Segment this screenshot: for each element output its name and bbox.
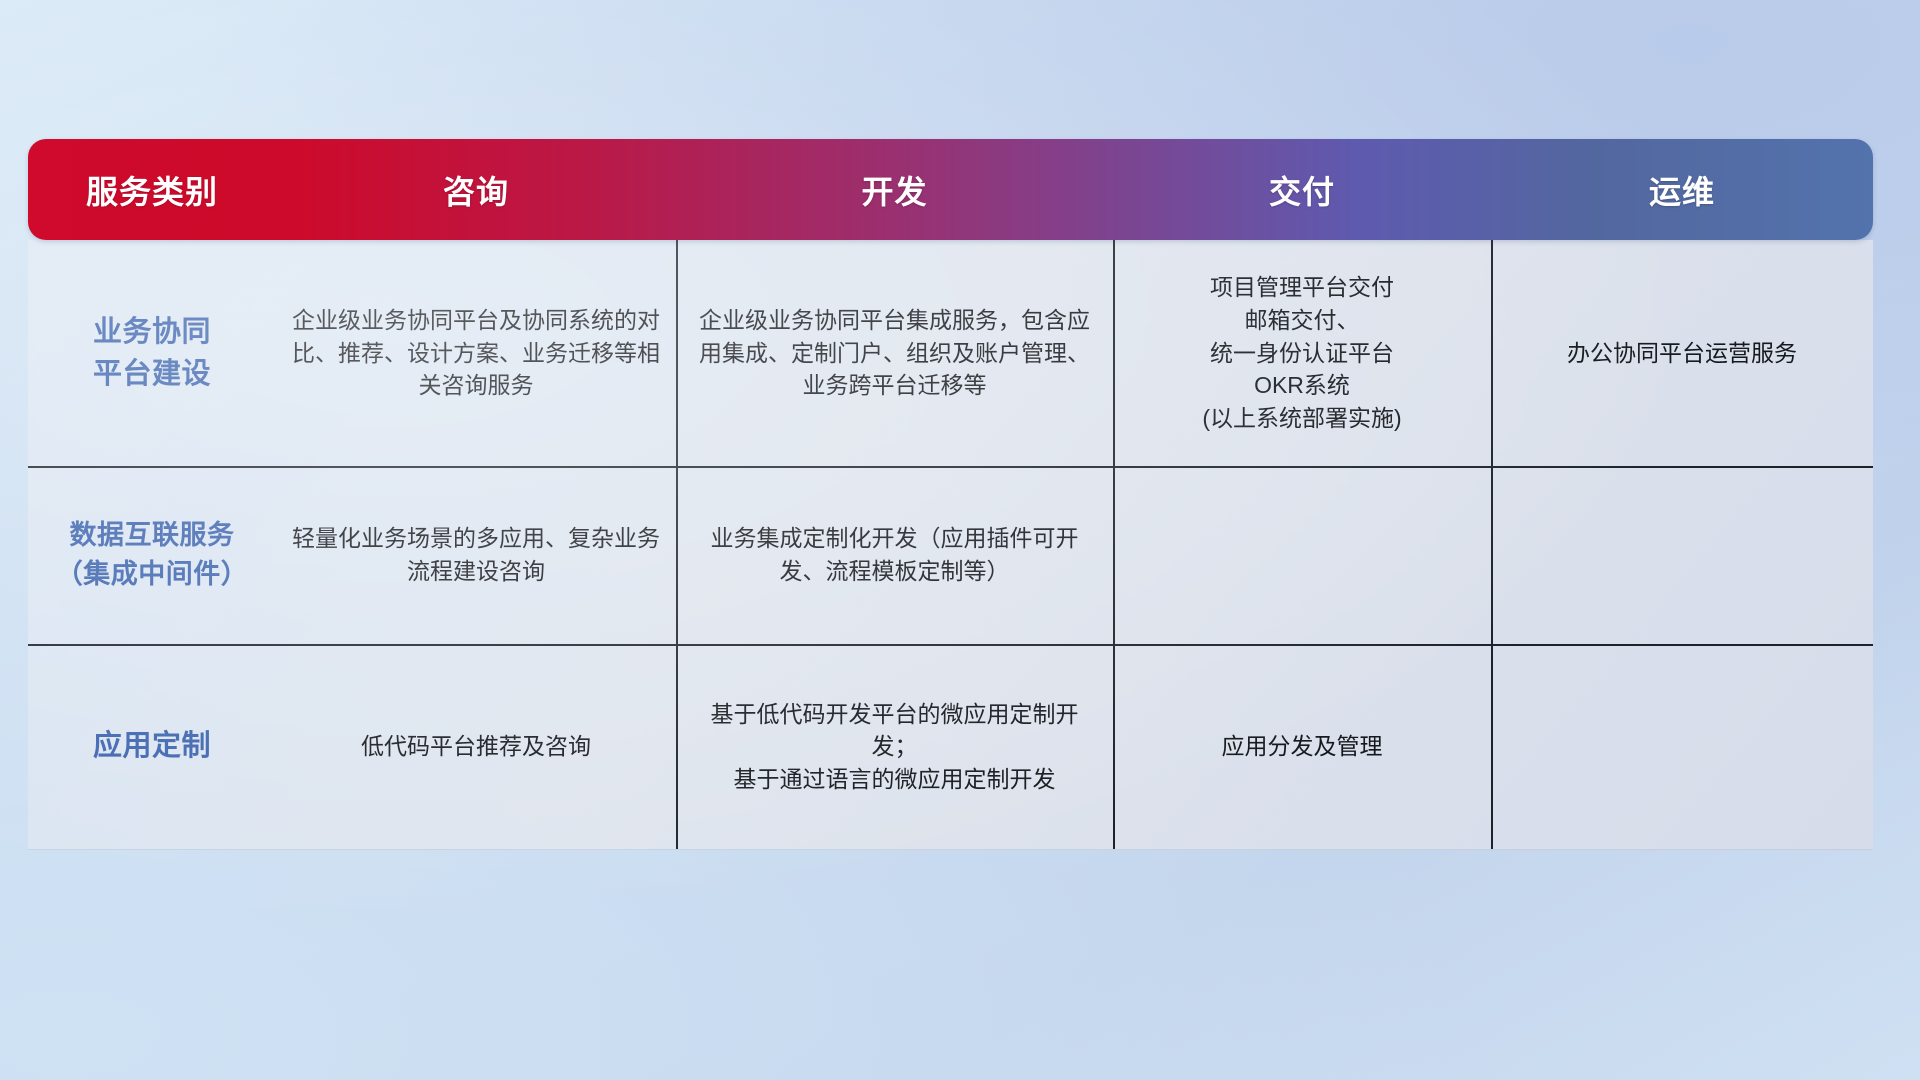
table-row: 数据互联服务 （集成中间件） 轻量化业务场景的多应用、复杂业务流程建设咨询 业务…: [28, 466, 1873, 644]
table-header-row: 服务类别 咨询 开发 交付 运维: [28, 139, 1873, 240]
cell-operations: 办公协同平台运营服务: [1491, 240, 1873, 466]
cell-delivery: [1113, 466, 1491, 644]
cell-consulting: 企业级业务协同平台及协同系统的对比、推荐、设计方案、业务迁移等相关咨询服务: [276, 240, 676, 466]
table-row: 应用定制 低代码平台推荐及咨询 基于低代码开发平台的微应用定制开发； 基于通过语…: [28, 644, 1873, 849]
cell-operations: [1491, 644, 1873, 849]
column-header-category: 服务类别: [28, 139, 276, 240]
row-category-label: 业务协同 平台建设: [28, 240, 276, 466]
cell-development: 企业级业务协同平台集成服务，包含应用集成、定制门户、组织及账户管理、业务跨平台迁…: [676, 240, 1113, 466]
row-category-label: 应用定制: [28, 644, 276, 849]
slide-canvas: 服务类别 咨询 开发 交付 运维 业务协同 平台建设 企业级业务协同平台及协同系…: [0, 0, 1920, 1080]
cell-delivery: 项目管理平台交付 邮箱交付、 统一身份认证平台 OKR系统 (以上系统部署实施): [1113, 240, 1491, 466]
column-header-consulting: 咨询: [276, 139, 676, 240]
table-row: 业务协同 平台建设 企业级业务协同平台及协同系统的对比、推荐、设计方案、业务迁移…: [28, 240, 1873, 466]
cell-development: 基于低代码开发平台的微应用定制开发； 基于通过语言的微应用定制开发: [676, 644, 1113, 849]
column-header-development: 开发: [676, 139, 1113, 240]
column-header-delivery: 交付: [1113, 139, 1491, 240]
cell-delivery: 应用分发及管理: [1113, 644, 1491, 849]
cell-development: 业务集成定制化开发（应用插件可开发、流程模板定制等）: [676, 466, 1113, 644]
cell-consulting: 低代码平台推荐及咨询: [276, 644, 676, 849]
table-body: 业务协同 平台建设 企业级业务协同平台及协同系统的对比、推荐、设计方案、业务迁移…: [28, 240, 1873, 850]
service-matrix-table: 服务类别 咨询 开发 交付 运维 业务协同 平台建设 企业级业务协同平台及协同系…: [28, 139, 1873, 850]
row-category-label: 数据互联服务 （集成中间件）: [28, 466, 276, 644]
cell-consulting: 轻量化业务场景的多应用、复杂业务流程建设咨询: [276, 466, 676, 644]
column-header-operations: 运维: [1491, 139, 1873, 240]
cell-operations: [1491, 466, 1873, 644]
